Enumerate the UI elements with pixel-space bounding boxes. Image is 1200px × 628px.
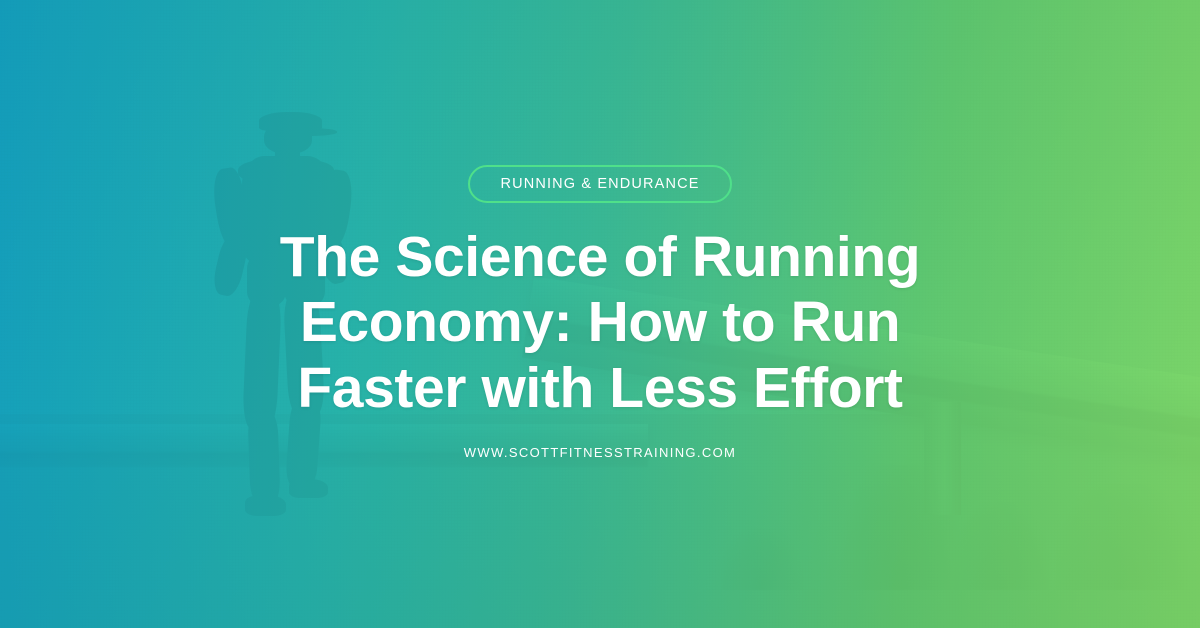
category-badge[interactable]: RUNNING & ENDURANCE <box>468 165 731 203</box>
website-url[interactable]: WWW.SCOTTFITNESSTRAINING.COM <box>464 445 737 460</box>
blog-header-banner: RUNNING & ENDURANCE The Science of Runni… <box>0 0 1200 628</box>
page-title-line-2: Economy: How to Run <box>220 290 980 355</box>
category-badge-label: RUNNING & ENDURANCE <box>500 177 699 192</box>
page-title-line-1: The Science of Running <box>220 225 980 290</box>
page-title-line-3: Faster with Less Effort <box>220 356 980 421</box>
banner-content: RUNNING & ENDURANCE The Science of Runni… <box>0 0 1200 628</box>
page-title: The Science of Running Economy: How to R… <box>220 225 980 421</box>
